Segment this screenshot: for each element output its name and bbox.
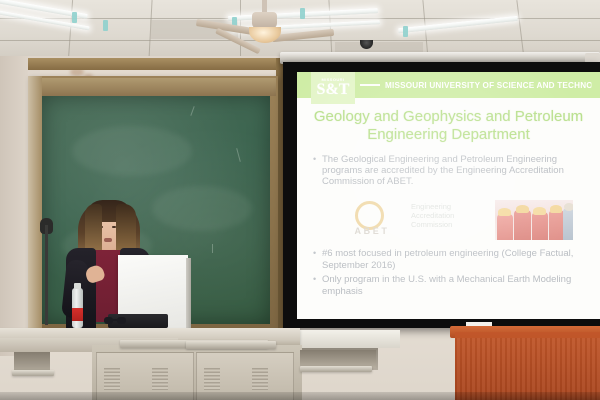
abet-commission-line-3: Commission [411,220,491,229]
left-wall [0,56,28,356]
abet-commission-text: Engineering Accreditation Commission [411,202,491,229]
chalkboard-chalk-rail [30,78,276,96]
cabinet-vent [104,368,120,390]
banner-divider [360,84,380,86]
presentation-slide: MISSOURI S&T MISSOURI UNIVERSITY OF SCIE… [297,72,600,319]
desk-drawer-rail [186,341,276,349]
slide-bullet-text: The Geological Engineering and Petroleum… [322,154,593,187]
slide-bullet-group-top: • The Geological Engineering and Petrole… [313,154,593,190]
wall-trim-top [28,58,286,70]
water-bottle-label [72,308,83,321]
slide-banner: MISSOURI S&T MISSOURI UNIVERSITY OF SCIE… [297,72,600,98]
slide-logo-row: ABET Engineering Accreditation Commissio… [327,200,597,246]
slide-bullet-text: Only program in the U.S. with a Mechanic… [322,274,593,297]
water-bottle-cap [74,283,81,289]
abet-wordmark: ABET [341,226,403,236]
classroom-photo: MISSOURI S&T MISSOURI UNIVERSITY OF SCIE… [0,0,600,400]
abet-logo: ABET [341,200,403,242]
whiteboard-edge [186,258,191,333]
abet-commission-line-2: Accreditation [411,211,491,220]
desk-drawer-rail [12,370,54,376]
slide-bullet: • Only program in the U.S. with a Mechan… [313,274,593,297]
chalkboard-left-edge [28,76,42,331]
light-hanger [403,26,408,37]
banner-university-name: MISSOURI UNIVERSITY OF SCIENCE AND TECHN… [385,80,591,90]
light-hanger [72,12,77,23]
slide-title-line-2: Engineering Department [311,126,586,144]
slide-title: Geology and Geophysics and Petroleum Eng… [311,108,586,144]
cabinet-vent [152,368,168,390]
light-hanger [103,20,108,31]
floor-shadow [0,392,600,400]
slide-title-line-1: Geology and Geophysics and Petroleum [311,108,586,126]
slide-bullet: • #6 most focused in petroleum engineeri… [313,248,593,271]
slide-photo-students [495,200,573,240]
side-counter [300,330,400,348]
light-hanger [300,8,305,19]
projector-screen: MISSOURI S&T MISSOURI UNIVERSITY OF SCIE… [297,72,600,319]
bullet-marker-icon: • [313,274,322,297]
slide-bullet-text: #6 most focused in petroleum engineering… [322,248,593,271]
cabinet-vent [204,368,220,390]
podium-wood-grain [455,338,600,400]
bullet-marker-icon: • [313,154,322,187]
abet-commission-line-1: Engineering [411,202,491,211]
bullet-marker-icon: • [313,248,322,271]
cabinet-vent [252,368,268,390]
eyeglasses [104,317,126,325]
ceiling [0,0,600,60]
desk-drawer-rail [300,366,372,372]
logo-st-word: S&T [317,82,350,97]
microphone-stand [45,225,48,325]
missouri-st-logo: MISSOURI S&T [311,72,355,104]
slide-bullet: • The Geological Engineering and Petrole… [313,154,593,187]
slide-bullet-group-bottom: • #6 most focused in petroleum engineeri… [313,248,593,300]
